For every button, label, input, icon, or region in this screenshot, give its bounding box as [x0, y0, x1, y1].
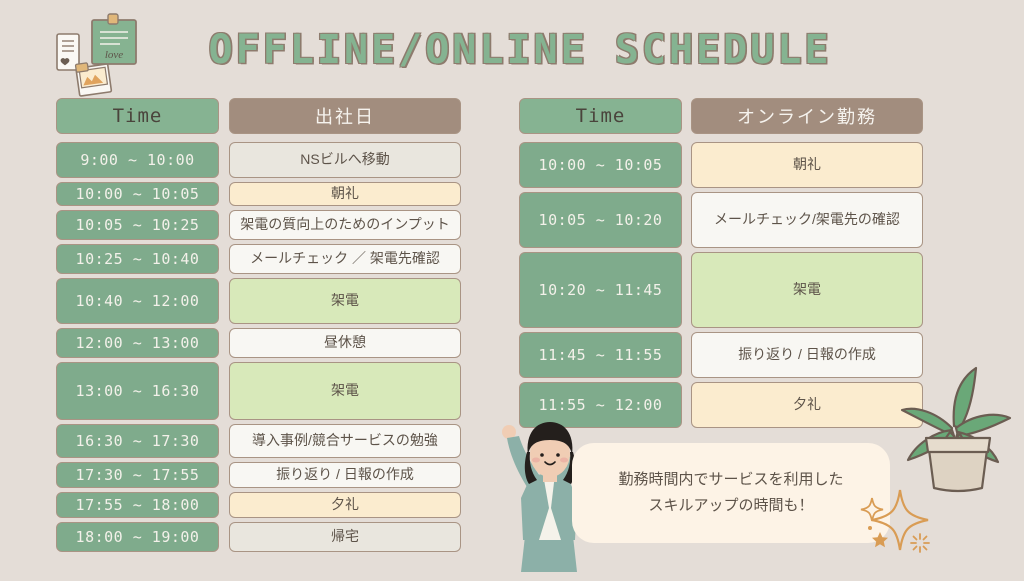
task-cell: 帰宅: [229, 522, 461, 552]
column-spacer: [682, 332, 691, 378]
table-row[interactable]: 10:20 ~ 11:45架電: [519, 252, 923, 328]
column-spacer: [219, 278, 229, 324]
column-spacer: [219, 210, 229, 240]
potted-plant-illustration: [892, 356, 1024, 506]
column-spacer: [219, 98, 229, 134]
column-spacer: [682, 142, 691, 188]
table-row[interactable]: 9:00 ~ 10:00NSビルへ移動: [56, 142, 461, 178]
column-spacer: [682, 252, 691, 328]
callout-bubble: 勤務時間内でサービスを利用した スキルアップの時間も！: [572, 443, 890, 543]
callout-line-1: 勤務時間内でサービスを利用した: [618, 471, 843, 488]
column-spacer: [219, 492, 229, 518]
schedule-poster: OFFLINE/ONLINE SCHEDULE love: [0, 0, 1024, 576]
online-task-header: オンライン勤務: [691, 98, 923, 134]
time-cell: 10:00 ~ 10:05: [56, 182, 219, 206]
task-cell: 導入事例/競合サービスの勉強: [229, 424, 461, 458]
task-cell: 振り返り / 日報の作成: [229, 462, 461, 488]
task-cell: NSビルへ移動: [229, 142, 461, 178]
column-spacer: [219, 142, 229, 178]
time-cell: 10:05 ~ 10:20: [519, 192, 682, 248]
time-cell: 10:25 ~ 10:40: [56, 244, 219, 274]
time-cell: 11:45 ~ 11:55: [519, 332, 682, 378]
time-cell: 12:00 ~ 13:00: [56, 328, 219, 358]
column-spacer: [219, 362, 229, 420]
task-cell: 架電: [691, 252, 923, 328]
time-cell: 10:05 ~ 10:25: [56, 210, 219, 240]
table-row[interactable]: 17:55 ~ 18:00夕礼: [56, 492, 461, 518]
table-row[interactable]: 10:40 ~ 12:00架電: [56, 278, 461, 324]
table-row[interactable]: 10:00 ~ 10:05朝礼: [519, 142, 923, 188]
time-cell: 18:00 ~ 19:00: [56, 522, 219, 552]
offline-task-header: 出社日: [229, 98, 461, 134]
online-time-header: Time: [519, 98, 682, 134]
time-cell: 10:40 ~ 12:00: [56, 278, 219, 324]
column-spacer: [219, 462, 229, 488]
offline-time-header: Time: [56, 98, 219, 134]
column-spacer: [682, 382, 691, 428]
memo-board-illustration: love: [44, 10, 164, 98]
task-cell: 夕礼: [229, 492, 461, 518]
time-cell: 16:30 ~ 17:30: [56, 424, 219, 458]
column-spacer: [219, 182, 229, 206]
column-spacer: [219, 244, 229, 274]
time-cell: 10:00 ~ 10:05: [519, 142, 682, 188]
page-title: OFFLINE/ONLINE SCHEDULE: [180, 22, 860, 78]
table-row[interactable]: 13:00 ~ 16:30架電: [56, 362, 461, 420]
table-row[interactable]: 10:25 ~ 10:40メールチェック ／ 架電先確認: [56, 244, 461, 274]
time-cell: 13:00 ~ 16:30: [56, 362, 219, 420]
task-cell: メールチェック ／ 架電先確認: [229, 244, 461, 274]
online-header-row: Timeオンライン勤務: [519, 98, 923, 134]
offline-header-row: Time出社日: [56, 98, 461, 134]
column-spacer: [682, 98, 691, 134]
svg-text:love: love: [105, 49, 123, 61]
task-cell: 朝礼: [691, 142, 923, 188]
table-row[interactable]: 10:00 ~ 10:05朝礼: [56, 182, 461, 206]
table-row[interactable]: 16:30 ~ 17:30導入事例/競合サービスの勉強: [56, 424, 461, 458]
table-row[interactable]: 17:30 ~ 17:55振り返り / 日報の作成: [56, 462, 461, 488]
task-cell: 架電: [229, 362, 461, 420]
table-row[interactable]: 10:05 ~ 10:25架電の質向上のためのインプット: [56, 210, 461, 240]
table-row[interactable]: 12:00 ~ 13:00昼休憩: [56, 328, 461, 358]
task-cell: 振り返り / 日報の作成: [691, 332, 923, 378]
time-cell: 17:30 ~ 17:55: [56, 462, 219, 488]
time-cell: 10:20 ~ 11:45: [519, 252, 682, 328]
task-cell: 朝礼: [229, 182, 461, 206]
column-spacer: [219, 424, 229, 458]
task-cell: 昼休憩: [229, 328, 461, 358]
table-row[interactable]: 11:45 ~ 11:55振り返り / 日報の作成: [519, 332, 923, 378]
time-cell: 17:55 ~ 18:00: [56, 492, 219, 518]
table-row[interactable]: 18:00 ~ 19:00帰宅: [56, 522, 461, 552]
callout-line-2: スキルアップの時間も！: [648, 497, 813, 514]
time-cell: 9:00 ~ 10:00: [56, 142, 219, 178]
column-spacer: [219, 328, 229, 358]
column-spacer: [219, 522, 229, 552]
table-row[interactable]: 10:05 ~ 10:20メールチェック/架電先の確認: [519, 192, 923, 248]
task-cell: 架電の質向上のためのインプット: [229, 210, 461, 240]
task-cell: 夕礼: [691, 382, 923, 428]
task-cell: メールチェック/架電先の確認: [691, 192, 923, 248]
task-cell: 架電: [229, 278, 461, 324]
column-spacer: [682, 192, 691, 248]
